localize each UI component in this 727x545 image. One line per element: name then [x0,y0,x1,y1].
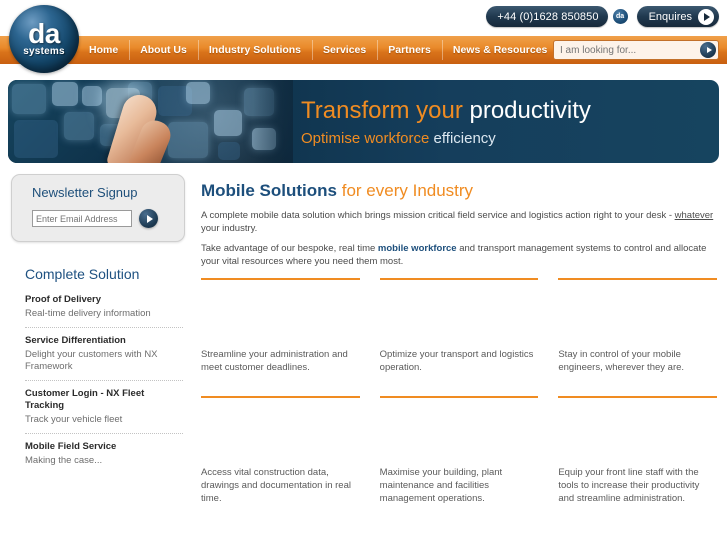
sidebar-item-title: Customer Login - NX Fleet Tracking [25,388,183,412]
logo-secondary-text: systems [23,46,64,57]
nav-item-services[interactable]: Services [312,36,377,64]
site-logo[interactable]: da systems [9,5,79,73]
content-text: Access vital construction data, drawings… [201,466,360,505]
content-text: Optimize your transport and logistics op… [380,348,539,374]
page-title: Mobile Solutions for every Industry [201,180,717,202]
enquires-label: Enquires [649,11,692,23]
page-root: +44 (0)1628 850850 da Enquires da system… [0,0,727,545]
sidebar-item-mobile-field-service[interactable]: Mobile Field Service Making the case... [25,441,183,474]
nav-item-home[interactable]: Home [78,36,129,64]
content-cell[interactable]: Optimize your transport and logistics op… [380,278,539,374]
hero-subheadline-white: efficiency [434,130,496,147]
content-row-2: Access vital construction data, drawings… [201,396,717,505]
sidebar-list: Proof of Delivery Real-time delivery inf… [25,294,183,481]
content-cell[interactable]: Streamline your administration and meet … [201,278,360,374]
sidebar-item-title: Proof of Delivery [25,294,183,306]
hero-headline: Transform your productivity [301,96,591,126]
intro-p2-text-a: Take advantage of our bespoke, real time [201,243,378,254]
content-image-placeholder [558,280,717,348]
hero-headline-orange: Transform your [301,97,463,124]
sidebar-item-proof-of-delivery[interactable]: Proof of Delivery Real-time delivery inf… [25,294,183,328]
page-title-orange: for every Industry [342,181,473,200]
hero-subheadline: Optimise workforce efficiency [301,128,591,150]
content-cell[interactable]: Equip your front line staff with the too… [558,396,717,505]
newsletter-email-input[interactable] [32,210,132,227]
content-cell[interactable]: Access vital construction data, drawings… [201,396,360,505]
logo-primary-text: da [28,22,60,46]
nav-item-about-us[interactable]: About Us [129,36,198,64]
search-input[interactable] [554,45,694,56]
content-image-placeholder [558,398,717,466]
search-box [553,40,719,60]
whatever-link[interactable]: whatever [675,210,714,221]
intro-section: Mobile Solutions for every Industry A co… [201,180,717,268]
da-badge-label: da [616,13,624,20]
hero-text: Transform your productivity Optimise wor… [301,96,591,150]
newsletter-signup-box: Newsletter Signup [11,174,185,242]
content-image-placeholder [380,280,539,348]
intro-paragraph-2: Take advantage of our bespoke, real time… [201,242,717,268]
content-text: Equip your front line staff with the too… [558,466,717,505]
newsletter-submit-icon[interactable] [139,209,158,228]
content-cell[interactable]: Stay in control of your mobile engineers… [558,278,717,374]
nav-item-industry-solutions[interactable]: Industry Solutions [198,36,312,64]
content-grid: Streamline your administration and meet … [201,278,717,505]
hero-image-fade [253,80,293,163]
hero-banner: Transform your productivity Optimise wor… [8,80,719,163]
sidebar-item-service-differentiation[interactable]: Service Differentiation Delight your cus… [25,335,183,381]
enquires-button[interactable]: Enquires [637,6,719,27]
hero-image-finger-touching-screen [8,80,293,163]
content-row-1: Streamline your administration and meet … [201,278,717,374]
page-title-blue: Mobile Solutions [201,181,337,200]
content-text: Streamline your administration and meet … [201,348,360,374]
sidebar-item-title: Mobile Field Service [25,441,183,453]
newsletter-title: Newsletter Signup [32,185,184,201]
sidebar-item-desc: Making the case... [25,455,183,467]
content-text: Maximise your building, plant maintenanc… [380,466,539,505]
newsletter-form-row [32,209,184,228]
nav-item-news-resources[interactable]: News & Resources [442,36,559,64]
intro-paragraph-1: A complete mobile data solution which br… [201,209,717,235]
content-cell[interactable]: Maximise your building, plant maintenanc… [380,396,539,505]
content-image-placeholder [201,398,360,466]
sidebar-item-desc: Delight your customers with NX Framework [25,349,183,373]
content-image-placeholder [201,280,360,348]
sidebar-item-title: Service Differentiation [25,335,183,347]
phone-number: +44 (0)1628 850850 [497,11,598,23]
content-image-placeholder [380,398,539,466]
phone-pill[interactable]: +44 (0)1628 850850 [486,6,607,27]
da-badge-icon: da [612,8,629,25]
sidebar-item-customer-login-nx-fleet-tracking[interactable]: Customer Login - NX Fleet Tracking Track… [25,388,183,434]
content-text: Stay in control of your mobile engineers… [558,348,717,374]
hero-headline-white: productivity [469,97,590,124]
top-contact-bar: +44 (0)1628 850850 da Enquires [486,6,719,27]
mobile-workforce-link[interactable]: mobile workforce [378,243,457,254]
arrow-right-icon [698,9,714,25]
search-submit-icon[interactable] [700,42,716,58]
hero-subheadline-orange: Optimise workforce [301,130,429,147]
intro-p1-text-b: your industry. [201,223,257,234]
nav-item-partners[interactable]: Partners [377,36,442,64]
sidebar-item-desc: Track your vehicle fleet [25,414,183,426]
sidebar-title: Complete Solution [25,265,139,283]
sidebar-item-desc: Real-time delivery information [25,308,183,320]
intro-p1-text-a: A complete mobile data solution which br… [201,210,675,221]
main-navigation: Home About Us Industry Solutions Service… [0,36,727,64]
